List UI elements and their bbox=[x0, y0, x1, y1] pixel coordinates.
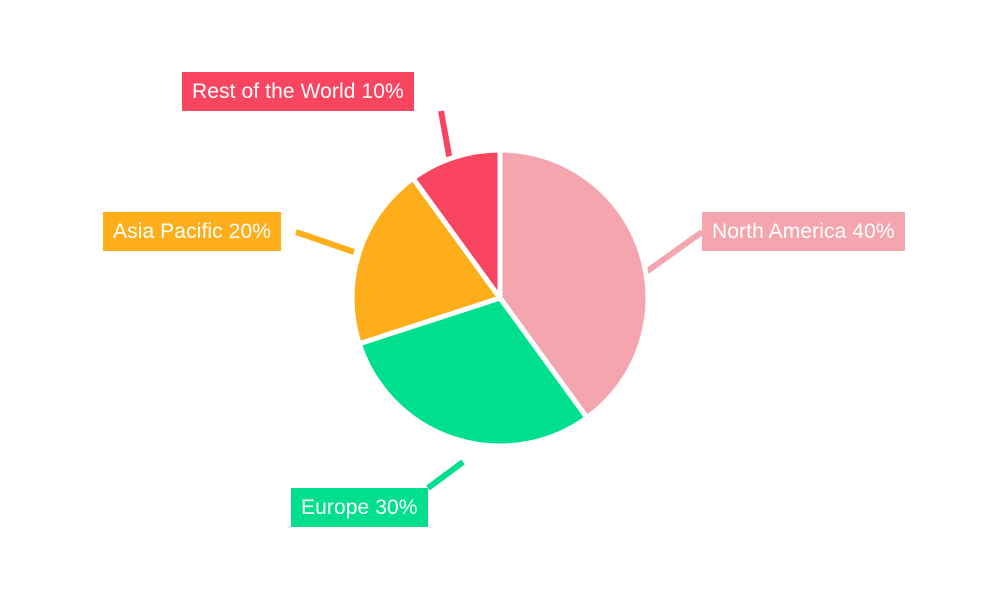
pie-label-asia-pacific-text: Asia Pacific 20% bbox=[113, 221, 271, 242]
pie-label-rest-of-world[interactable]: Rest of the World 10% bbox=[182, 72, 414, 111]
pie-chart-figure: North America 40% Europe 30% Asia Pacifi… bbox=[0, 0, 1000, 600]
pie-label-europe-text: Europe 30% bbox=[301, 497, 418, 518]
leader-line-europe bbox=[428, 462, 463, 488]
pie-label-europe[interactable]: Europe 30% bbox=[291, 488, 428, 527]
pie-slice-group bbox=[352, 150, 648, 446]
leader-line-asia-pacific bbox=[296, 232, 354, 252]
pie-label-rest-of-world-text: Rest of the World 10% bbox=[192, 81, 404, 102]
pie-label-north-america[interactable]: North America 40% bbox=[702, 212, 905, 251]
leader-line-north-america bbox=[646, 232, 702, 272]
pie-chart-canvas bbox=[0, 0, 1000, 600]
pie-label-asia-pacific[interactable]: Asia Pacific 20% bbox=[103, 212, 281, 251]
pie-label-north-america-text: North America 40% bbox=[712, 221, 895, 242]
